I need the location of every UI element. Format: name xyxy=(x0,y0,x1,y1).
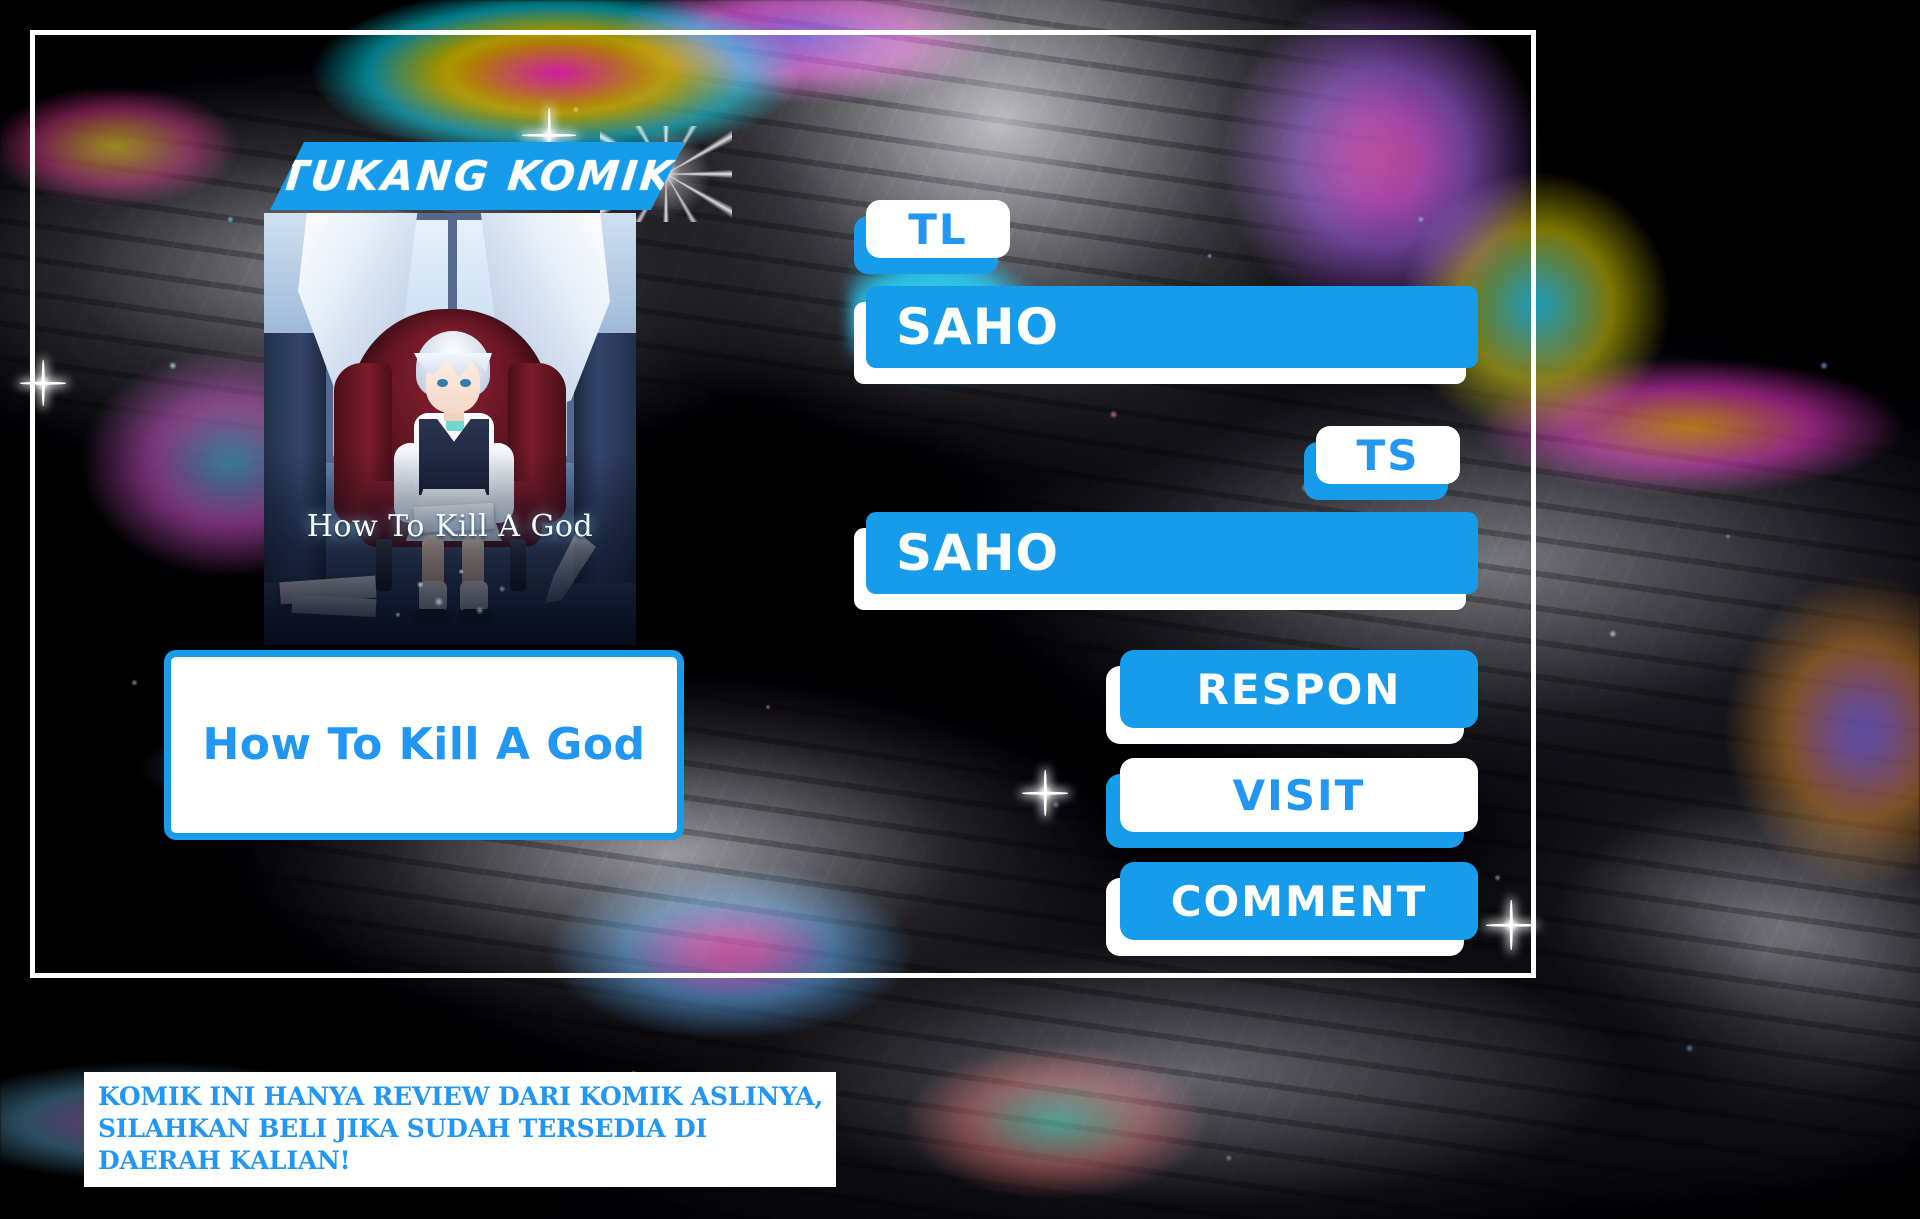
disclaimer-text: KOMIK INI HANYA REVIEW DARI KOMIK ASLINY… xyxy=(98,1081,824,1177)
comic-title-plate: How To Kill A God xyxy=(164,650,684,840)
sparkle-icon xyxy=(1486,900,1536,950)
site-name-label: TUKANG KOMIK xyxy=(278,152,678,200)
cover-bubbles xyxy=(264,213,636,645)
credit-role-tl-badge: TL xyxy=(866,200,1010,258)
comic-cover-image[interactable]: How To Kill A God xyxy=(264,213,636,645)
comic-title-label: How To Kill A God xyxy=(202,721,645,769)
cover-title-logo: How To Kill A God xyxy=(264,509,636,544)
credit-role-ts-badge: TS xyxy=(1316,426,1460,484)
respon-button-label: RESPON xyxy=(1197,665,1402,714)
credit-page-canvas: How To Kill A God TUKANG KOMIK How To Ki… xyxy=(0,0,1920,1219)
credit-name-ts-label: SAHO xyxy=(896,524,1059,582)
respon-button[interactable]: RESPON xyxy=(1120,650,1478,728)
comment-button[interactable]: COMMENT xyxy=(1120,862,1478,940)
credit-role-ts-label: TS xyxy=(1357,431,1420,480)
credit-name-tl-label: SAHO xyxy=(896,298,1059,356)
disclaimer-banner: KOMIK INI HANYA REVIEW DARI KOMIK ASLINY… xyxy=(84,1072,836,1187)
credit-role-tl-label: TL xyxy=(908,205,967,254)
visit-button[interactable]: VISIT xyxy=(1120,758,1478,832)
site-name-banner: TUKANG KOMIK xyxy=(270,142,685,210)
credit-name-tl-bar: SAHO xyxy=(866,286,1478,368)
comment-button-label: COMMENT xyxy=(1171,877,1428,926)
sparkle-icon xyxy=(20,360,66,406)
sparkle-icon xyxy=(1022,770,1068,816)
credit-name-ts-bar: SAHO xyxy=(866,512,1478,594)
visit-button-label: VISIT xyxy=(1233,771,1366,820)
